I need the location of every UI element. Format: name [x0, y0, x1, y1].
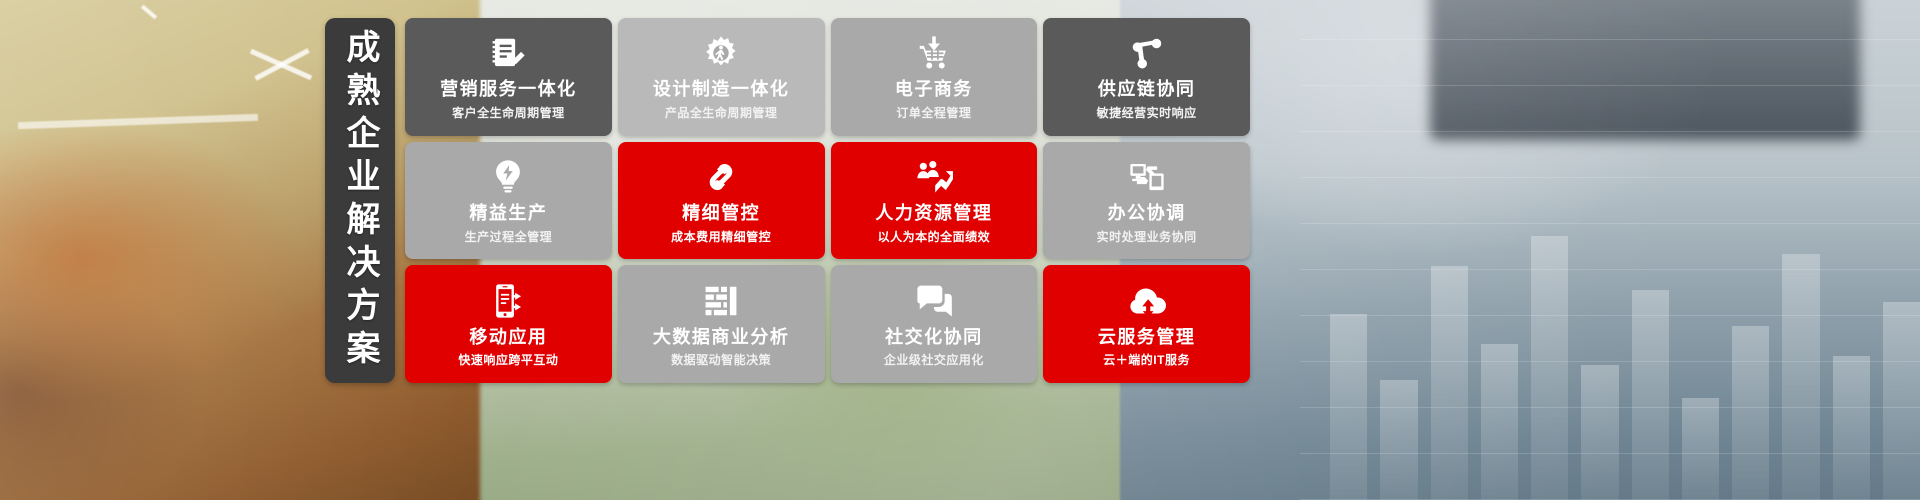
solution-card-title: 供应链协同 [1098, 79, 1196, 100]
solution-card-title: 设计制造一体化 [653, 79, 790, 100]
gear-person-icon [701, 33, 741, 73]
solution-card-title: 移动应用 [469, 327, 547, 348]
solution-card[interactable]: 营销服务一体化客户全生命周期管理 [405, 18, 612, 136]
solution-card-title: 人力资源管理 [875, 203, 992, 224]
solution-card-title: 社交化协同 [885, 327, 983, 348]
solution-card-title: 精细管控 [682, 203, 760, 224]
share-nodes-icon [1127, 33, 1167, 73]
solution-card[interactable]: 设计制造一体化产品全生命周期管理 [618, 18, 825, 136]
solution-card[interactable]: 云服务管理云＋端的IT服务 [1043, 265, 1250, 383]
shopping-cart-download-icon [914, 33, 954, 73]
solution-card[interactable]: 人力资源管理以人为本的全面绩效 [831, 142, 1038, 260]
solution-card-title: 电子商务 [895, 79, 973, 100]
solution-card-title: 营销服务一体化 [440, 79, 577, 100]
people-growth-icon [914, 157, 954, 197]
solution-card[interactable]: 移动应用快速响应跨平互动 [405, 265, 612, 383]
solution-card-subtitle: 数据驱动智能决策 [671, 353, 771, 367]
solution-card-subtitle: 云＋端的IT服务 [1103, 353, 1190, 367]
solution-card-title: 云服务管理 [1098, 327, 1196, 348]
devices-sync-icon [1127, 157, 1167, 197]
page-title: 成熟企业解决方案 [343, 29, 377, 373]
solution-card[interactable]: 供应链协同敏捷经营实时响应 [1043, 18, 1250, 136]
chat-bubbles-icon [914, 281, 954, 321]
mobile-phone-icon [488, 281, 528, 321]
solution-card-subtitle: 订单全程管理 [896, 106, 971, 120]
solution-card-subtitle: 敏捷经营实时响应 [1097, 106, 1197, 120]
clipboard-pencil-icon [488, 33, 528, 73]
solution-card-subtitle: 成本费用精细管控 [671, 230, 771, 244]
solution-card-title: 办公协调 [1108, 203, 1186, 224]
solution-card-subtitle: 实时处理业务协同 [1097, 230, 1197, 244]
solution-card[interactable]: 办公协调实时处理业务协同 [1043, 142, 1250, 260]
solution-card-subtitle: 生产过程全管理 [465, 230, 553, 244]
data-bars-icon [701, 281, 741, 321]
solution-card-subtitle: 快速响应跨平互动 [458, 353, 558, 367]
solution-card-title: 大数据商业分析 [653, 327, 790, 348]
link-chain-icon [701, 157, 741, 197]
solution-card-subtitle: 产品全生命周期管理 [665, 106, 778, 120]
vertical-title-panel: 成熟企业解决方案 [325, 18, 395, 383]
solution-card-subtitle: 客户全生命周期管理 [452, 106, 565, 120]
solution-card-subtitle: 企业级社交应用化 [884, 353, 984, 367]
solution-card[interactable]: 大数据商业分析数据驱动智能决策 [618, 265, 825, 383]
solution-card-title: 精益生产 [469, 203, 547, 224]
cloud-upload-icon [1127, 281, 1167, 321]
lightbulb-bolt-icon [488, 157, 528, 197]
solutions-grid: 营销服务一体化客户全生命周期管理设计制造一体化产品全生命周期管理电子商务订单全程… [405, 18, 1250, 383]
solution-card[interactable]: 电子商务订单全程管理 [831, 18, 1038, 136]
solution-card[interactable]: 社交化协同企业级社交应用化 [831, 265, 1038, 383]
solution-card[interactable]: 精细管控成本费用精细管控 [618, 142, 825, 260]
solution-card-subtitle: 以人为本的全面绩效 [878, 230, 991, 244]
solution-card[interactable]: 精益生产生产过程全管理 [405, 142, 612, 260]
